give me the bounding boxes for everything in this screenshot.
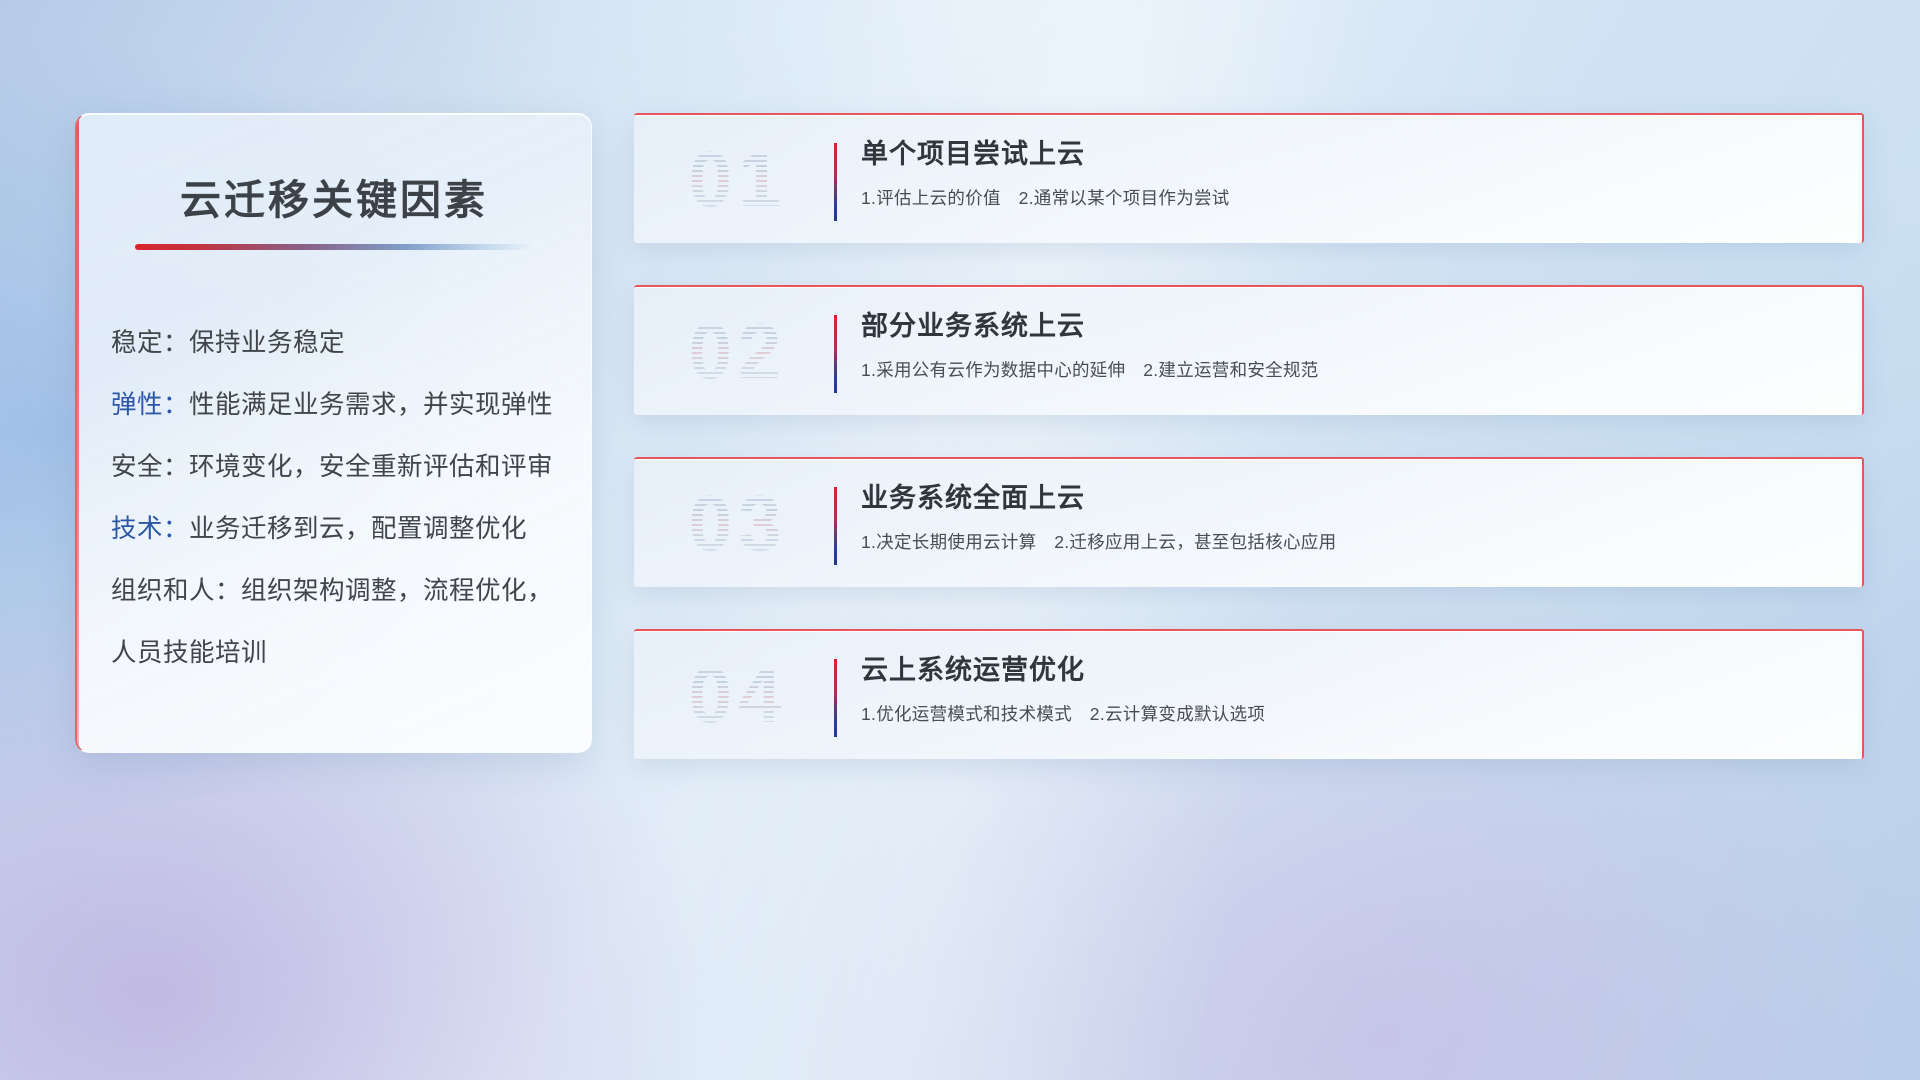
- bullet-text: 环境变化，安全重新评估和评审: [189, 453, 553, 481]
- stage-subtitle: 1.决定长期使用云计算 2.迁移应用上云，甚至包括核心应用: [861, 530, 1838, 555]
- stage-number-text: 01: [689, 140, 788, 218]
- stage-number-text: 04: [689, 656, 788, 734]
- stage-card-04[interactable]: 04 云上系统运营优化 1.优化运营模式和技术模式 2.云计算变成默认选项: [634, 629, 1864, 759]
- stage-card-body: 云上系统运营优化 1.优化运营模式和技术模式 2.云计算变成默认选项: [861, 653, 1838, 727]
- bullet-label: 弹性：: [111, 391, 189, 419]
- list-item: 安全：环境变化，安全重新评估和评审: [111, 436, 557, 498]
- stage-divider-rule: [834, 487, 837, 565]
- stage-number-01: 01: [660, 140, 816, 218]
- stage-card-body: 单个项目尝试上云 1.评估上云的价值 2.通常以某个项目作为尝试: [861, 137, 1838, 211]
- stage-divider-rule: [834, 315, 837, 393]
- stage-number-03: 03: [660, 484, 816, 562]
- bullet-label: 组织和人：: [111, 577, 241, 605]
- page-title: 云迁移关键因素: [77, 166, 591, 226]
- stage-card-body: 业务系统全面上云 1.决定长期使用云计算 2.迁移应用上云，甚至包括核心应用: [861, 481, 1838, 555]
- stage-number-text: 02: [689, 312, 788, 390]
- stage-subtitle: 1.采用公有云作为数据中心的延伸 2.建立运营和安全规范: [861, 358, 1838, 383]
- bullet-text: 性能满足业务需求，并实现弹性: [189, 391, 553, 419]
- stage-subtitle: 1.评估上云的价值 2.通常以某个项目作为尝试: [861, 186, 1838, 211]
- stage-divider-rule: [834, 659, 837, 737]
- stage-card-01[interactable]: 01 单个项目尝试上云 1.评估上云的价值 2.通常以某个项目作为尝试: [634, 113, 1864, 243]
- stage-card-03[interactable]: 03 业务系统全面上云 1.决定长期使用云计算 2.迁移应用上云，甚至包括核心应…: [634, 457, 1864, 587]
- list-item: 稳定：保持业务稳定: [111, 312, 557, 374]
- list-item: 技术：业务迁移到云，配置调整优化: [111, 498, 557, 560]
- list-item: 组织和人：组织架构调整，流程优化，: [111, 560, 557, 622]
- stage-title: 单个项目尝试上云: [861, 137, 1838, 172]
- migration-stage-cards: 01 单个项目尝试上云 1.评估上云的价值 2.通常以某个项目作为尝试 02 部…: [634, 113, 1864, 759]
- bullet-text: 保持业务稳定: [189, 329, 345, 357]
- bullet-text: 人员技能培训: [111, 639, 267, 667]
- bullet-label: 稳定：: [111, 329, 189, 357]
- slide-stage: 云迁移关键因素 稳定：保持业务稳定 弹性：性能满足业务需求，并实现弹性 安全：环…: [0, 0, 1920, 1080]
- bullet-text: 业务迁移到云，配置调整优化: [189, 515, 527, 543]
- stage-card-body: 部分业务系统上云 1.采用公有云作为数据中心的延伸 2.建立运营和安全规范: [861, 309, 1838, 383]
- stage-number-text: 03: [689, 484, 788, 562]
- stage-card-02[interactable]: 02 部分业务系统上云 1.采用公有云作为数据中心的延伸 2.建立运营和安全规范: [634, 285, 1864, 415]
- stage-number-04: 04: [660, 656, 816, 734]
- key-factors-panel: 云迁移关键因素 稳定：保持业务稳定 弹性：性能满足业务需求，并实现弹性 安全：环…: [75, 113, 592, 753]
- stage-number-02: 02: [660, 312, 816, 390]
- title-underline-rule: [135, 244, 533, 250]
- stage-title: 部分业务系统上云: [861, 309, 1838, 344]
- stage-title: 业务系统全面上云: [861, 481, 1838, 516]
- key-factors-list: 稳定：保持业务稳定 弹性：性能满足业务需求，并实现弹性 安全：环境变化，安全重新…: [77, 312, 591, 684]
- bullet-text: 组织架构调整，流程优化，: [241, 577, 553, 605]
- bullet-label: 安全：: [111, 453, 189, 481]
- bullet-label: 技术：: [111, 515, 189, 543]
- list-item: 弹性：性能满足业务需求，并实现弹性: [111, 374, 557, 436]
- list-item-continued: 人员技能培训: [111, 622, 557, 684]
- stage-divider-rule: [834, 143, 837, 221]
- stage-subtitle: 1.优化运营模式和技术模式 2.云计算变成默认选项: [861, 702, 1838, 727]
- stage-title: 云上系统运营优化: [861, 653, 1838, 688]
